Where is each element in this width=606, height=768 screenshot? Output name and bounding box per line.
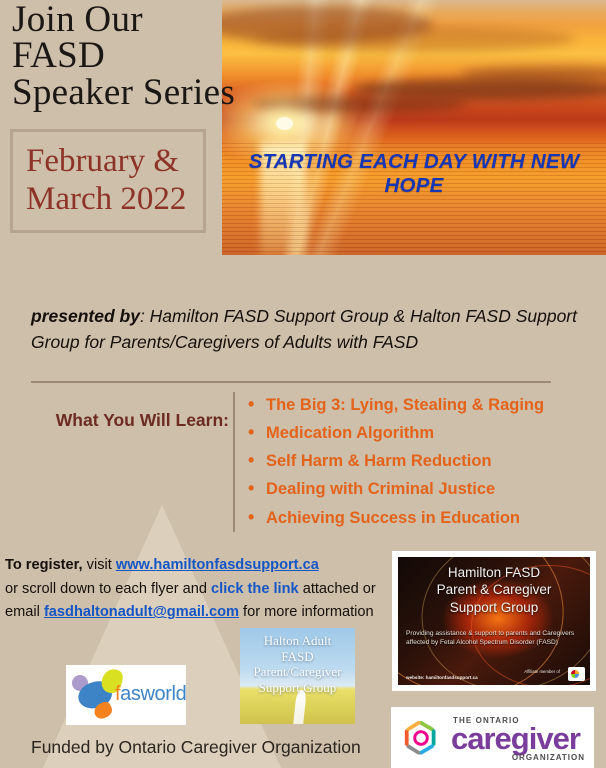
presented-by-colon: :	[140, 306, 150, 326]
page-title: Join Our FASD Speaker Series	[12, 2, 238, 111]
website-link[interactable]: www.hamiltonfasdsupport.ca	[116, 557, 319, 573]
register-line-3: email fasdhaltonadult@gmail.com for more…	[5, 601, 385, 625]
page-title-line-1: Join Our	[12, 2, 238, 38]
hamilton-card-affiliate-label: Affiliate member of	[524, 669, 560, 674]
hamilton-card-artwork: Hamilton FASD Parent & Caregiver Support…	[398, 557, 590, 685]
caregiver-organization-label: ORGANIZATION	[512, 753, 585, 762]
horizontal-divider	[31, 381, 551, 383]
halton-title-line-4: Support Group	[240, 680, 355, 696]
hamilton-title-line-2: Parent & Caregiver	[398, 581, 590, 598]
register-scroll-text: or scroll down to each flyer and	[5, 581, 211, 597]
fasworld-logo: fasworld	[66, 665, 186, 725]
click-the-link-text[interactable]: click the link	[211, 581, 299, 597]
hamilton-card-title: Hamilton FASD Parent & Caregiver Support…	[398, 564, 590, 616]
registration-info-block: To register, visit www.hamiltonfasdsuppo…	[5, 554, 385, 625]
header-title-block: Join Our FASD Speaker Series	[12, 2, 238, 111]
fasworld-wordmark-text: asworld	[120, 683, 186, 705]
list-item: Achieving Success in Education	[248, 508, 598, 528]
learn-bullet-list: The Big 3: Lying, Stealing & Raging Medi…	[248, 395, 598, 536]
date-box: February & March 2022	[10, 129, 206, 233]
date-line-2: March 2022	[26, 181, 203, 219]
presented-by-label: presented by	[31, 306, 140, 326]
halton-title-line-2: FASD	[240, 649, 355, 665]
hero-caption: STARTING EACH DAY WITH NEW HOPE	[222, 150, 606, 198]
what-you-will-learn-label: What You Will Learn:	[24, 410, 229, 431]
ontario-caregiver-organization-logo: THE ONTARIO caregiver ORGANIZATION	[391, 707, 594, 768]
register-bold-prefix: To register,	[5, 557, 83, 573]
halton-title-line-3: Parent/Caregiver	[240, 664, 355, 680]
halton-title-line-1: Halton Adult	[240, 633, 355, 649]
email-link[interactable]: fasdhaltonadult@gmail.com	[44, 604, 239, 620]
register-email-label: email	[5, 604, 44, 620]
hamilton-card-website: website: hamiltonfasdsupport.ca	[406, 675, 478, 680]
cloud-band	[253, 96, 468, 113]
date-line-1: February &	[26, 143, 203, 181]
funded-by-text: Funded by Ontario Caregiver Organization	[31, 737, 361, 758]
cloud-band	[253, 26, 576, 52]
register-more-info-text: for more information	[239, 604, 374, 620]
list-item: Medication Algorithm	[248, 423, 598, 443]
vertical-divider	[233, 392, 235, 532]
hamilton-title-line-3: Support Group	[398, 599, 590, 616]
sunset-hero-image: STARTING EACH DAY WITH NEW HOPE	[222, 0, 606, 255]
halton-card-title: Halton Adult FASD Parent/Caregiver Suppo…	[240, 633, 355, 695]
presented-by-block: presented by: Hamilton FASD Support Grou…	[31, 303, 583, 356]
poster-canvas: Join Our FASD Speaker Series February & …	[0, 0, 606, 768]
page-title-line-2: FASD	[12, 38, 238, 74]
register-attached-text: attached or	[299, 581, 376, 597]
affiliate-logo-icon	[568, 667, 585, 681]
hamilton-fasd-support-group-card: Hamilton FASD Parent & Caregiver Support…	[392, 551, 596, 691]
list-item: Dealing with Criminal Justice	[248, 479, 598, 499]
list-item: The Big 3: Lying, Stealing & Raging	[248, 395, 598, 415]
caregiver-hexagon-links-icon	[400, 717, 442, 759]
register-line-1: To register, visit www.hamiltonfasdsuppo…	[5, 554, 385, 578]
list-item: Self Harm & Harm Reduction	[248, 451, 598, 471]
register-visit-text: visit	[83, 557, 116, 573]
hamilton-card-description: Providing assistance & support to parent…	[406, 629, 582, 648]
fasworld-wordmark: fasworld	[115, 683, 186, 706]
caregiver-wordmark: caregiver	[451, 721, 580, 757]
register-line-2: or scroll down to each flyer and click t…	[5, 578, 385, 602]
halton-adult-fasd-card: Halton Adult FASD Parent/Caregiver Suppo…	[240, 628, 355, 724]
hamilton-title-line-1: Hamilton FASD	[398, 564, 590, 581]
page-title-line-3: Speaker Series	[12, 75, 238, 111]
